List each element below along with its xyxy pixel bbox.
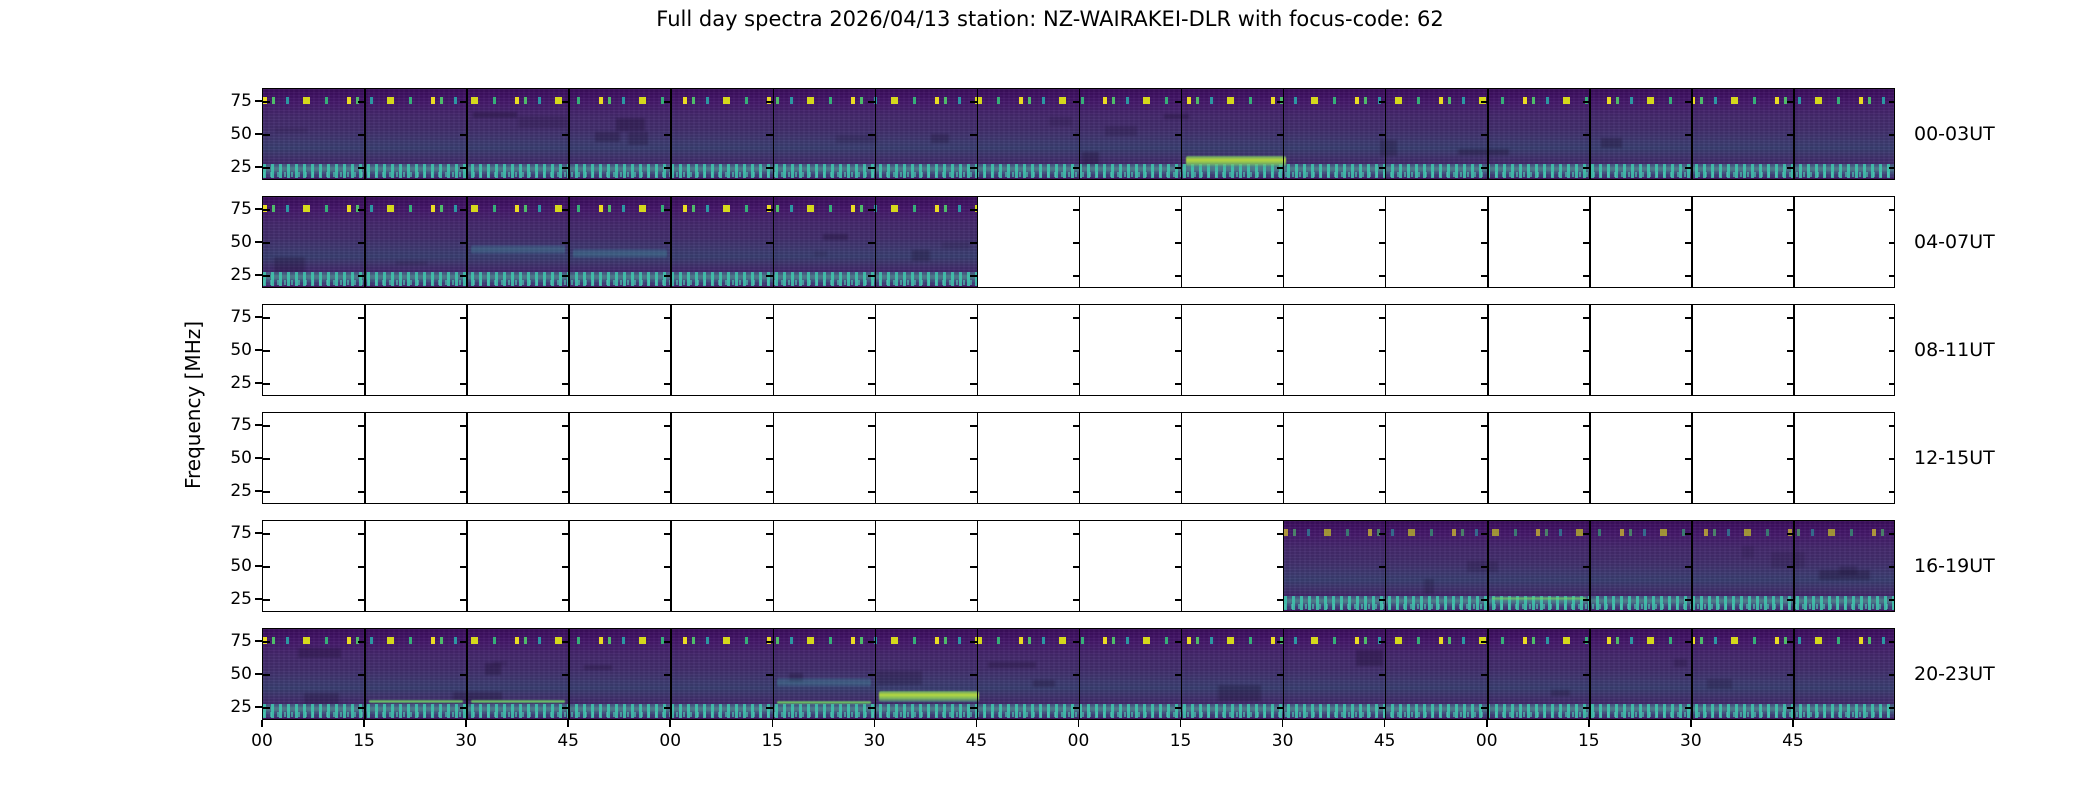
row-inner (263, 89, 1894, 179)
y-tick-mark (1175, 101, 1182, 103)
y-tick-mark (970, 566, 977, 568)
y-tick-mark-outer (255, 133, 262, 135)
spectrogram-artifact (518, 116, 567, 128)
y-tick-mark (1379, 242, 1386, 244)
y-tick-mark (1379, 350, 1386, 352)
y-tick-mark (460, 566, 467, 568)
y-tick-mark-outer (255, 274, 262, 276)
y-tick-mark (1583, 425, 1590, 427)
spectrogram-artifact (836, 135, 877, 142)
y-tick-mark-outer (255, 706, 262, 708)
y-tick-label: 25 (230, 265, 252, 285)
spectrogram-artifact (396, 261, 426, 266)
y-tick-mark (868, 134, 875, 136)
y-tick-mark (1583, 566, 1590, 568)
y-tick-mark (1073, 533, 1080, 535)
y-tick-mark (1889, 533, 1895, 535)
y-tick-mark (1175, 599, 1182, 601)
x-tick-label: 15 (353, 731, 375, 751)
y-tick-mark (1481, 350, 1488, 352)
y-tick-mark (1073, 275, 1080, 277)
y-tick-mark (1481, 209, 1488, 211)
y-tick-mark (970, 491, 977, 493)
spectrogram-row-16-19ut (262, 520, 1895, 612)
y-tick-mark (868, 425, 875, 427)
y-tick-mark (970, 599, 977, 601)
y-tick-mark (1889, 425, 1895, 427)
y-tick-mark (1073, 674, 1080, 676)
y-tick-mark (868, 566, 875, 568)
y-tick-mark (1787, 674, 1794, 676)
y-tick-mark (1277, 134, 1284, 136)
y-tick-mark (1073, 101, 1080, 103)
row-label-16-19ut: 16-19UT (1914, 555, 1995, 577)
y-tick-mark (358, 275, 365, 277)
y-tick-mark (664, 533, 671, 535)
y-tick-mark (1787, 101, 1794, 103)
x-tick-label: 00 (1476, 731, 1498, 751)
x-tick-label: 00 (659, 731, 681, 751)
y-tick-mark (1277, 275, 1284, 277)
y-tick-mark (1685, 101, 1692, 103)
y-tick-mark (1685, 350, 1692, 352)
spectrogram-artifact (274, 257, 305, 271)
y-tick-mark (562, 209, 569, 211)
y-tick-label: 50 (230, 448, 252, 468)
spectrogram-artifact (1049, 117, 1072, 127)
y-tick-mark (1685, 533, 1692, 535)
y-tick-mark (1583, 599, 1590, 601)
x-tick-label: 45 (557, 731, 579, 751)
x-tick-mark (669, 720, 671, 727)
y-tick-mark (1787, 425, 1794, 427)
y-tick-mark (1277, 533, 1284, 535)
y-tick-mark (562, 566, 569, 568)
y-tick-mark (1889, 599, 1895, 601)
y-tick-mark (1685, 209, 1692, 211)
y-tick-mark (1787, 641, 1794, 643)
y-tick-mark (358, 674, 365, 676)
y-tick-mark (664, 641, 671, 643)
y-tick-mark (1277, 425, 1284, 427)
spectrogram-row-04-07ut (262, 196, 1895, 288)
y-tick-mark (358, 383, 365, 385)
y-tick-mark (1175, 350, 1182, 352)
y-tick-mark (1073, 350, 1080, 352)
y-tick-mark (460, 458, 467, 460)
y-tick-mark (358, 242, 365, 244)
y-tick-mark (1073, 707, 1080, 709)
spectrogram-artifact (931, 134, 949, 143)
y-tick-mark (1889, 242, 1895, 244)
y-tick-mark (1175, 425, 1182, 427)
y-tick-mark (1175, 458, 1182, 460)
y-tick-mark (460, 533, 467, 535)
y-tick-mark (562, 533, 569, 535)
y-tick-mark (868, 209, 875, 211)
y-tick-mark (1277, 167, 1284, 169)
y-tick-mark (664, 674, 671, 676)
y-tick-mark (1787, 458, 1794, 460)
y-tick-mark (1379, 566, 1386, 568)
y-tick-mark (358, 533, 365, 535)
y-tick-mark (562, 317, 569, 319)
y-tick-mark (766, 707, 773, 709)
row-inner (263, 521, 1894, 611)
y-tick-mark (1277, 641, 1284, 643)
y-tick-label: 75 (230, 631, 252, 651)
y-tick-mark (868, 458, 875, 460)
y-tick-mark (1889, 674, 1895, 676)
y-tick-mark (1889, 134, 1895, 136)
y-tick-mark (1073, 383, 1080, 385)
y-tick-mark (1889, 566, 1895, 568)
y-tick-mark (1175, 167, 1182, 169)
y-tick-mark (1481, 317, 1488, 319)
y-tick-mark (1889, 101, 1895, 103)
y-tick-mark (1379, 707, 1386, 709)
y-tick-mark (1787, 383, 1794, 385)
y-tick-mark (460, 275, 467, 277)
spectrogram-row-20-23ut (262, 628, 1895, 720)
y-tick-mark (1481, 533, 1488, 535)
y-tick-label: 25 (230, 481, 252, 501)
radio-burst-feature (1186, 156, 1286, 167)
y-tick-mark (1175, 491, 1182, 493)
y-tick-mark (263, 599, 270, 601)
y-tick-mark (1685, 599, 1692, 601)
y-tick-mark (970, 209, 977, 211)
row-label-08-11ut: 08-11UT (1914, 339, 1995, 361)
y-tick-mark (1889, 317, 1895, 319)
y-tick-label: 50 (230, 340, 252, 360)
y-tick-mark (664, 350, 671, 352)
spectrogram-artifact (275, 128, 307, 133)
y-tick-mark (1583, 317, 1590, 319)
y-tick-label: 75 (230, 91, 252, 111)
y-tick-mark (1685, 566, 1692, 568)
y-tick-mark (664, 707, 671, 709)
x-tick-mark (1588, 720, 1590, 727)
x-tick-mark (1384, 720, 1386, 727)
y-tick-mark (1583, 134, 1590, 136)
y-tick-mark (562, 674, 569, 676)
y-tick-mark (664, 458, 671, 460)
spectrogram-artifact (473, 112, 517, 118)
y-tick-mark (1481, 674, 1488, 676)
y-tick-mark (1787, 167, 1794, 169)
y-tick-mark (970, 383, 977, 385)
y-tick-mark (358, 167, 365, 169)
y-tick-mark (970, 167, 977, 169)
y-tick-mark (1685, 242, 1692, 244)
y-tick-mark (868, 533, 875, 535)
y-tick-mark (263, 533, 270, 535)
y-tick-mark (868, 641, 875, 643)
y-tick-mark (664, 101, 671, 103)
y-tick-mark (766, 350, 773, 352)
radio-burst-feature (471, 245, 565, 254)
y-tick-mark (970, 533, 977, 535)
spectrogram-artifact (304, 693, 339, 704)
y-tick-mark-outer (255, 424, 262, 426)
y-tick-mark (1277, 317, 1284, 319)
y-tick-mark (358, 209, 365, 211)
y-tick-mark-outer (255, 532, 262, 534)
y-tick-mark (664, 383, 671, 385)
y-tick-mark (1481, 491, 1488, 493)
y-tick-mark (460, 134, 467, 136)
y-tick-mark (664, 275, 671, 277)
y-tick-mark (1889, 458, 1895, 460)
spectrogram-artifact (1674, 659, 1687, 666)
y-tick-mark (1277, 101, 1284, 103)
y-tick-mark (1073, 641, 1080, 643)
y-tick-mark (1379, 317, 1386, 319)
y-tick-mark (1175, 242, 1182, 244)
x-tick-mark (772, 720, 774, 727)
radio-burst-feature (471, 700, 565, 703)
y-tick-mark (1175, 707, 1182, 709)
y-tick-mark (1277, 674, 1284, 676)
x-tick-label: 00 (1068, 731, 1090, 751)
y-tick-mark (1685, 491, 1692, 493)
y-tick-mark-outer (255, 640, 262, 642)
y-tick-mark (1685, 425, 1692, 427)
y-tick-mark (1277, 350, 1284, 352)
y-tick-mark (1379, 674, 1386, 676)
y-tick-mark (1583, 674, 1590, 676)
y-tick-mark (766, 209, 773, 211)
spectrogram-artifact (912, 250, 930, 261)
spectrogram-artifact (1164, 114, 1190, 119)
y-tick-mark (1481, 275, 1488, 277)
y-tick-mark (1277, 383, 1284, 385)
y-tick-mark (1889, 383, 1895, 385)
y-tick-mark (664, 566, 671, 568)
y-tick-mark (1685, 167, 1692, 169)
y-tick-mark (868, 317, 875, 319)
spectrogram-artifact (1380, 140, 1397, 156)
x-tick-mark (1078, 720, 1080, 727)
y-tick-mark (1481, 167, 1488, 169)
y-tick-mark (562, 425, 569, 427)
y-tick-mark (868, 491, 875, 493)
y-tick-mark (868, 275, 875, 277)
y-tick-mark (766, 425, 773, 427)
y-tick-mark (1481, 641, 1488, 643)
y-tick-mark (970, 707, 977, 709)
row-label-20-23ut: 20-23UT (1914, 663, 1995, 685)
y-tick-mark (1787, 491, 1794, 493)
y-tick-mark (868, 101, 875, 103)
y-tick-mark (766, 275, 773, 277)
y-tick-mark-outer (255, 316, 262, 318)
x-tick-mark (465, 720, 467, 727)
y-tick-mark (263, 317, 270, 319)
radio-burst-feature (777, 701, 871, 704)
y-tick-mark (1481, 134, 1488, 136)
row-inner (263, 629, 1894, 719)
y-tick-mark (1583, 533, 1590, 535)
y-tick-mark (460, 209, 467, 211)
y-tick-mark (1685, 275, 1692, 277)
y-tick-mark-outer (255, 241, 262, 243)
y-tick-mark (1787, 242, 1794, 244)
spectrogram-artifact (584, 665, 612, 670)
y-tick-mark (766, 491, 773, 493)
row-label-04-07ut: 04-07UT (1914, 231, 1995, 253)
spectrogram-artifact (814, 251, 827, 257)
y-tick-mark (263, 275, 270, 277)
y-tick-mark (263, 167, 270, 169)
radio-burst-feature (369, 700, 463, 703)
y-tick-mark (263, 641, 270, 643)
y-tick-mark-outer (255, 208, 262, 210)
y-tick-mark (868, 707, 875, 709)
y-tick-mark (1889, 275, 1895, 277)
x-tick-label: 15 (1578, 731, 1600, 751)
y-tick-mark (562, 641, 569, 643)
y-tick-mark (766, 167, 773, 169)
y-tick-mark (766, 674, 773, 676)
y-tick-mark (263, 566, 270, 568)
y-tick-mark (1481, 599, 1488, 601)
y-tick-mark (1787, 599, 1794, 601)
y-tick-mark (766, 533, 773, 535)
row-inner (263, 197, 1894, 287)
y-tick-mark (562, 101, 569, 103)
radio-burst-feature (879, 691, 979, 702)
y-axis-label: Frequency [MHz] (178, 85, 208, 725)
y-tick-mark-outer (255, 598, 262, 600)
y-tick-mark (1787, 533, 1794, 535)
spectrogram-artifact (1458, 149, 1509, 156)
y-tick-mark (1481, 458, 1488, 460)
row-label-12-15ut: 12-15UT (1914, 447, 1995, 469)
y-tick-label: 25 (230, 589, 252, 609)
spectrogram-artifact (1424, 579, 1435, 593)
y-tick-mark (1481, 566, 1488, 568)
y-tick-mark (868, 674, 875, 676)
y-tick-mark (1787, 350, 1794, 352)
y-tick-mark (460, 425, 467, 427)
y-tick-mark-outer (255, 490, 262, 492)
y-tick-mark (1583, 383, 1590, 385)
y-tick-mark (562, 491, 569, 493)
y-tick-label: 50 (230, 556, 252, 576)
x-tick-mark (1486, 720, 1488, 727)
row-inner (263, 413, 1894, 503)
y-tick-mark (263, 134, 270, 136)
y-tick-mark (1889, 350, 1895, 352)
y-tick-mark (664, 209, 671, 211)
y-tick-mark (970, 641, 977, 643)
y-tick-mark (460, 674, 467, 676)
radio-burst-feature (1492, 597, 1586, 600)
x-tick-mark (976, 720, 978, 727)
y-tick-mark (1277, 458, 1284, 460)
y-tick-mark (1175, 566, 1182, 568)
x-tick-label: 30 (1680, 731, 1702, 751)
y-tick-mark (1685, 458, 1692, 460)
spectrogram-row-08-11ut (262, 304, 1895, 396)
y-tick-mark (1175, 317, 1182, 319)
y-tick-mark (1583, 101, 1590, 103)
y-tick-mark (263, 383, 270, 385)
y-tick-mark (263, 350, 270, 352)
y-tick-mark (766, 566, 773, 568)
y-tick-mark (1583, 707, 1590, 709)
x-tick-mark (1282, 720, 1284, 727)
y-tick-mark (970, 350, 977, 352)
y-tick-mark (460, 707, 467, 709)
y-tick-mark (358, 491, 365, 493)
spectrogram-artifact (1839, 566, 1857, 575)
y-tick-mark (1889, 641, 1895, 643)
y-tick-mark (970, 101, 977, 103)
y-tick-mark (1379, 167, 1386, 169)
y-tick-mark (460, 641, 467, 643)
y-tick-label: 75 (230, 523, 252, 543)
y-tick-mark (1073, 458, 1080, 460)
y-tick-mark (664, 242, 671, 244)
y-tick-mark (1277, 599, 1284, 601)
y-tick-mark (263, 242, 270, 244)
x-tick-mark (1792, 720, 1794, 727)
y-tick-mark (1073, 599, 1080, 601)
y-tick-mark (358, 458, 365, 460)
y-tick-mark (562, 383, 569, 385)
y-tick-mark (970, 674, 977, 676)
y-tick-mark (263, 209, 270, 211)
y-tick-mark-outer (255, 382, 262, 384)
y-tick-mark (1481, 101, 1488, 103)
y-tick-mark (358, 707, 365, 709)
y-tick-mark (1481, 383, 1488, 385)
spectrogram-artifact (942, 242, 970, 248)
x-tick-mark (567, 720, 569, 727)
y-tick-mark (263, 674, 270, 676)
spectrogram-grid: 75502500-03UT75502504-07UT75502508-11UT7… (262, 88, 1895, 720)
y-tick-mark (460, 167, 467, 169)
spectrogram-artifact (1356, 650, 1383, 666)
y-tick-mark (970, 425, 977, 427)
y-tick-mark (1685, 383, 1692, 385)
y-tick-mark (970, 242, 977, 244)
y-tick-mark (1073, 566, 1080, 568)
x-tick-mark (363, 720, 365, 727)
y-tick-mark (1073, 425, 1080, 427)
y-tick-mark (460, 491, 467, 493)
y-tick-mark (263, 491, 270, 493)
y-tick-mark (970, 317, 977, 319)
y-tick-mark (1073, 209, 1080, 211)
y-tick-mark (358, 566, 365, 568)
radio-burst-feature (777, 678, 871, 687)
y-tick-mark (1685, 134, 1692, 136)
y-tick-mark (1583, 209, 1590, 211)
y-tick-mark (562, 275, 569, 277)
y-tick-mark (766, 101, 773, 103)
y-tick-mark (1787, 275, 1794, 277)
spectrogram-artifact (988, 662, 1036, 667)
y-tick-mark (1379, 101, 1386, 103)
y-tick-mark (1685, 317, 1692, 319)
y-tick-mark (1379, 383, 1386, 385)
y-tick-mark (1481, 242, 1488, 244)
y-tick-mark (1889, 707, 1895, 709)
